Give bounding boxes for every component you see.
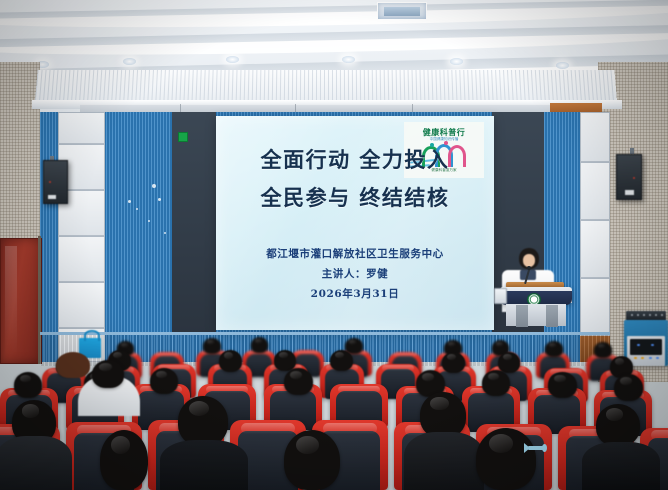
wall-speaker-right bbox=[616, 154, 642, 200]
rack-led bbox=[641, 357, 644, 359]
wall-panel bbox=[58, 282, 105, 328]
audience-shoulders bbox=[404, 432, 484, 490]
audience-head bbox=[330, 350, 353, 371]
audience-shoulders bbox=[582, 442, 660, 490]
wall-panel bbox=[580, 112, 610, 162]
ceiling-downlight bbox=[450, 58, 463, 65]
wall-panel bbox=[580, 162, 610, 220]
podium-leg bbox=[546, 305, 558, 327]
stage-wall-cap bbox=[40, 332, 610, 335]
projection-screen: 健康科普行 中国健康知识传播 健康科普惠万家 全面行动 全力投入 全民参与 终结… bbox=[216, 116, 494, 330]
audience-head bbox=[219, 350, 242, 372]
screen-frame-left bbox=[172, 112, 216, 334]
rack-led bbox=[656, 357, 659, 359]
ceiling-downlight bbox=[226, 56, 239, 63]
rack-led bbox=[634, 357, 637, 359]
audience-head bbox=[594, 342, 612, 358]
audience-head bbox=[548, 372, 577, 398]
audience-head bbox=[251, 337, 268, 353]
wall-panel bbox=[580, 220, 610, 278]
fishbone-hair-clip-head bbox=[542, 444, 547, 452]
slide-date: 2026年3月31日 bbox=[216, 286, 494, 301]
tote-bag-handle bbox=[84, 330, 100, 341]
equipment-rack bbox=[624, 320, 668, 366]
podium-laptop bbox=[494, 288, 507, 304]
slide-title-line-1: 全面行动 全力投入 bbox=[216, 144, 494, 174]
audience-shoulders bbox=[0, 436, 72, 490]
wall-speaker-left bbox=[43, 160, 68, 204]
audience-head-foreground bbox=[178, 396, 228, 446]
podium-front-band bbox=[500, 291, 572, 305]
ceiling-downlight bbox=[342, 56, 355, 63]
ceiling-downlight bbox=[556, 62, 569, 69]
audience-head bbox=[203, 338, 221, 354]
exit-sign-icon bbox=[178, 132, 188, 142]
audience-head-foreground bbox=[284, 430, 340, 490]
audience-head-with-clip bbox=[476, 428, 536, 490]
microphone-head-icon bbox=[527, 266, 531, 270]
slide-organization: 都江堰市灌口解放社区卫生服务中心 bbox=[216, 246, 494, 261]
slide-title-line-2: 全民参与 终结结核 bbox=[216, 182, 494, 212]
audience-shoulders bbox=[160, 440, 248, 490]
audience-head bbox=[545, 341, 563, 357]
wall-panel bbox=[580, 278, 610, 336]
audience-head bbox=[92, 360, 124, 388]
audience-head bbox=[614, 374, 643, 401]
slide-presenter: 主讲人：罗健 bbox=[216, 266, 494, 281]
wall-panel bbox=[58, 236, 105, 282]
audience-head bbox=[150, 368, 178, 394]
audience-head bbox=[498, 352, 520, 373]
audience-head-foreground bbox=[596, 404, 640, 446]
podium-leg bbox=[516, 305, 528, 327]
audience-head bbox=[14, 372, 42, 398]
audience-head bbox=[284, 368, 313, 395]
rack-led bbox=[637, 344, 640, 346]
auditorium-photo: 健康科普行 中国健康知识传播 健康科普惠万家 全面行动 全力投入 全民参与 终结… bbox=[0, 0, 668, 490]
audience-head-foreground bbox=[100, 430, 148, 490]
audience-head bbox=[442, 352, 465, 373]
auditorium-door[interactable] bbox=[0, 238, 42, 364]
rack-led bbox=[651, 344, 654, 346]
audience-head-curly bbox=[56, 352, 90, 378]
audience-head bbox=[482, 370, 510, 396]
rack-led bbox=[649, 357, 652, 359]
ceiling-downlight bbox=[123, 58, 136, 65]
ceiling-vent bbox=[377, 2, 427, 20]
wall-panel bbox=[58, 112, 105, 144]
